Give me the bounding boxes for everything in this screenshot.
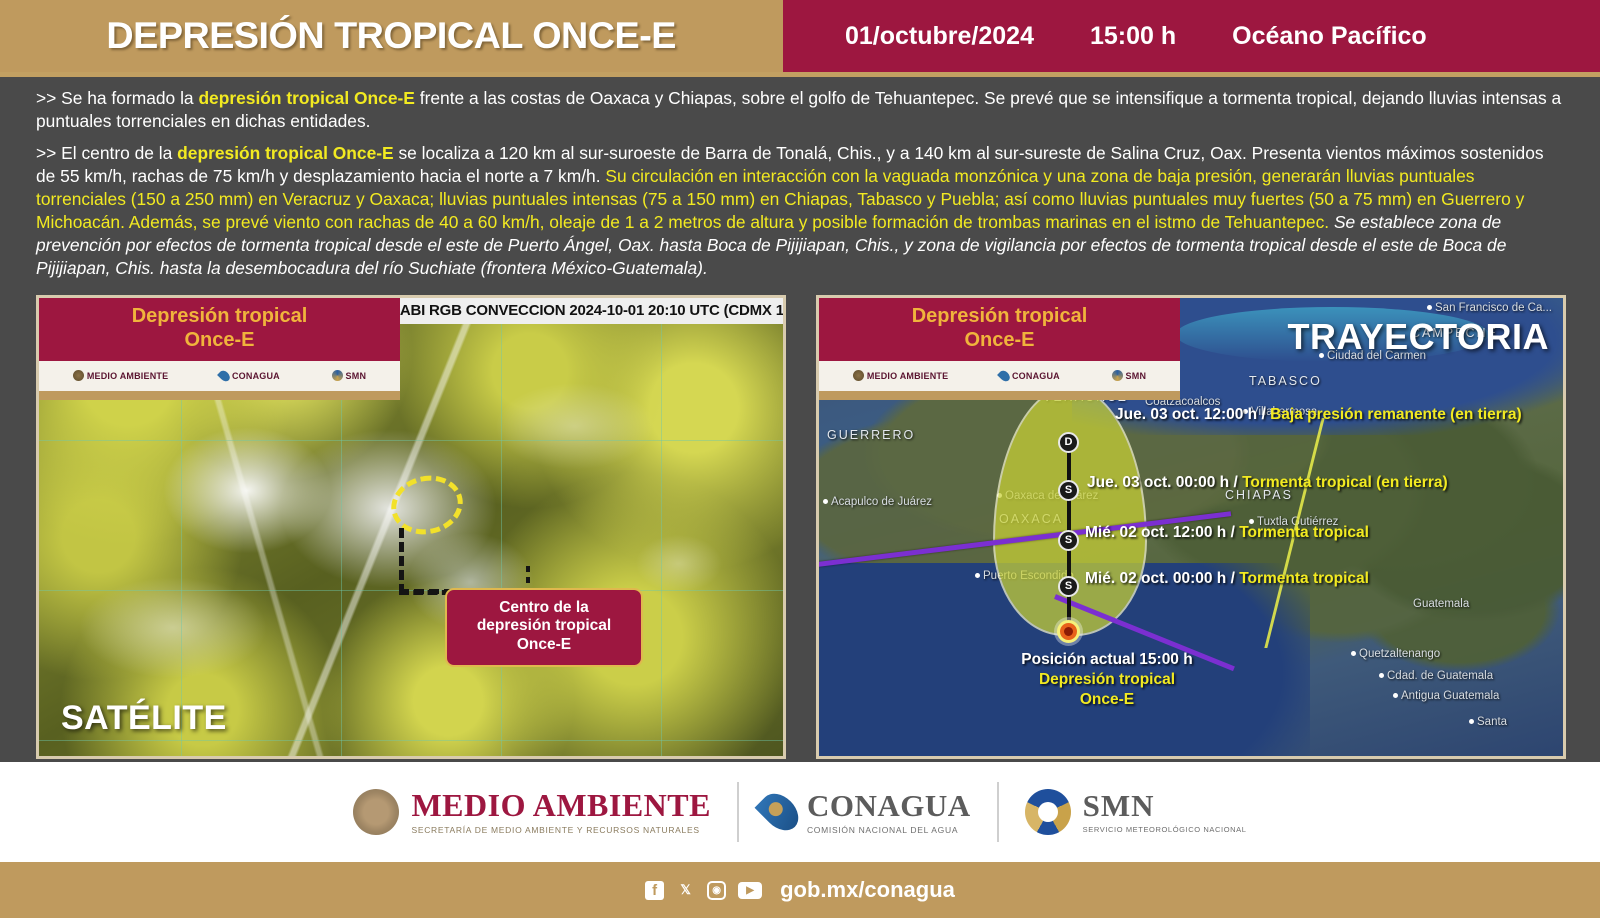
conagua-water-drop-icon bbox=[754, 787, 805, 838]
track-label-2-time: Mié. 02 oct. 12:00 h bbox=[1085, 524, 1226, 541]
footer-conagua-title: CONAGUA bbox=[807, 790, 971, 821]
traj-logo-smn-label: SMN bbox=[1126, 371, 1147, 381]
place-dot-icon bbox=[975, 573, 980, 578]
traj-logo-smn: SMN bbox=[1112, 370, 1147, 381]
place-label: Santa bbox=[1477, 716, 1507, 728]
state-label: GUERRERO bbox=[827, 428, 915, 442]
image-panels: GOES-16 ABI RGB CONVECCION 2024-10-01 20… bbox=[0, 289, 1600, 759]
paragraph-2-segment-1: El centro de la bbox=[61, 143, 177, 163]
sat-logo-conagua: CONAGUA bbox=[220, 370, 280, 382]
trajectory-panel[interactable]: Xalapa-Enríquez Veracruz de Zaragoza PUE… bbox=[816, 295, 1566, 759]
track-label-2-category: Tormenta tropical bbox=[1239, 524, 1369, 541]
satellite-center-callout: Centro de la depresión tropical Once-E bbox=[445, 588, 643, 667]
place-dot-icon bbox=[1351, 651, 1356, 656]
header-meta-block: 01/octubre/2024 15:00 h Océano Pacífico bbox=[783, 0, 1600, 72]
footer-smn-subtitle: SERVICIO METEOROLÓGICO NACIONAL bbox=[1083, 825, 1247, 834]
track-label-0-category: Baja presión remanente (en tierra) bbox=[1270, 406, 1522, 423]
paragraph-2-chevron: >> bbox=[36, 143, 61, 163]
satellite-badge-line2: Once-E bbox=[39, 328, 400, 352]
current-position-marker[interactable] bbox=[1057, 620, 1080, 643]
water-drop-icon bbox=[217, 368, 232, 383]
satellite-branding-box: Depresión tropical Once-E MEDIO AMBIENTE… bbox=[39, 298, 400, 400]
satellite-panel[interactable]: GOES-16 ABI RGB CONVECCION 2024-10-01 20… bbox=[36, 295, 786, 759]
header-time: 15:00 h bbox=[1090, 22, 1176, 51]
traj-logo-conagua: CONAGUA bbox=[1000, 370, 1060, 382]
map-place-cdad-guatemala: Cdad. de Guatemala bbox=[1379, 670, 1493, 682]
state-label: TABASCO bbox=[1249, 374, 1322, 388]
track-label-0-sep: / bbox=[1257, 406, 1270, 423]
map-state-guerrero: GUERRERO bbox=[827, 428, 915, 442]
goes-product-title: GOES-16 ABI RGB CONVECCION 2024-10-01 20… bbox=[400, 298, 783, 324]
current-position-label: Posición actual 15:00 h Depresión tropic… bbox=[967, 650, 1247, 710]
satellite-badge-line1: Depresión tropical bbox=[39, 304, 400, 328]
callout-line1: Centro de la bbox=[453, 599, 635, 618]
place-dot-icon bbox=[1427, 305, 1432, 310]
footer-logo-conagua: CONAGUA COMISIÓN NACIONAL DEL AGUA bbox=[765, 790, 971, 835]
satellite-badge-strip bbox=[39, 391, 400, 400]
sat-logo-medio-label: MEDIO AMBIENTE bbox=[87, 371, 168, 381]
instagram-icon[interactable]: ◉ bbox=[707, 881, 726, 900]
track-node-0[interactable]: D bbox=[1058, 432, 1079, 453]
footer-medio-title: MEDIO AMBIENTE bbox=[411, 789, 710, 821]
sat-logo-smn-label: SMN bbox=[346, 371, 367, 381]
track-label-0: Jue. 03 oct. 12:00 h / Baja presión rema… bbox=[1115, 406, 1522, 424]
map-place-antigua-guatemala: Antigua Guatemala bbox=[1393, 690, 1499, 702]
traj-logo-medio-label: MEDIO AMBIENTE bbox=[867, 371, 948, 381]
map-place-acapulco: Acapulco de Juárez bbox=[823, 496, 932, 508]
callout-line2: depresión tropical bbox=[453, 617, 635, 636]
track-label-1-sep: / bbox=[1229, 474, 1242, 491]
paragraph-1-highlight-1: depresión tropical Once-E bbox=[198, 88, 414, 108]
trajectory-badge-strip bbox=[819, 391, 1180, 400]
bulletin-header: DEPRESIÓN TROPICAL ONCE-E 01/octubre/202… bbox=[0, 0, 1600, 72]
footer-logo-smn: SMN SERVICIO METEOROLÓGICO NACIONAL bbox=[1025, 789, 1247, 835]
footer-logo-medio-ambiente: MEDIO AMBIENTE SECRETARÍA DE MEDIO AMBIE… bbox=[353, 789, 710, 835]
footer-social-bar: f 𝕏 ◉ ▶ gob.mx/conagua bbox=[0, 862, 1600, 918]
current-position-line2: Depresión tropical bbox=[967, 670, 1247, 690]
footer-smn-title: SMN bbox=[1083, 790, 1247, 821]
trajectory-badge-line2: Once-E bbox=[819, 328, 1180, 352]
water-drop-icon bbox=[997, 368, 1012, 383]
cyclone-bracket-marker bbox=[399, 528, 499, 594]
place-label: Quetzaltenango bbox=[1359, 648, 1440, 660]
map-place-santa: Santa bbox=[1469, 716, 1507, 728]
sat-logo-conagua-label: CONAGUA bbox=[232, 371, 280, 381]
youtube-icon[interactable]: ▶ bbox=[738, 882, 762, 899]
track-node-1[interactable]: S bbox=[1058, 480, 1079, 501]
paragraph-2-highlight-1: depresión tropical Once-E bbox=[177, 143, 393, 163]
footer-medio-subtitle: SECRETARÍA DE MEDIO AMBIENTE Y RECURSOS … bbox=[411, 825, 710, 835]
trajectory-branding-box: Depresión tropical Once-E MEDIO AMBIENTE… bbox=[819, 298, 1180, 400]
traj-logo-conagua-label: CONAGUA bbox=[1012, 371, 1060, 381]
place-label: Acapulco de Juárez bbox=[831, 496, 932, 508]
callout-leader-line bbox=[526, 566, 530, 590]
paragraph-1-chevron: >> bbox=[36, 88, 61, 108]
place-dot-icon bbox=[823, 499, 828, 504]
spiral-icon bbox=[332, 370, 343, 381]
track-label-3-category: Tormenta tropical bbox=[1239, 570, 1369, 587]
place-label: Guatemala bbox=[1413, 598, 1469, 610]
sat-logo-smn: SMN bbox=[332, 370, 367, 381]
track-label-2: Mié. 02 oct. 12:00 h / Tormenta tropical bbox=[1085, 524, 1369, 542]
satellite-corner-label: SATÉLITE bbox=[61, 699, 227, 738]
footer-divider-1 bbox=[737, 782, 739, 842]
header-title-block: DEPRESIÓN TROPICAL ONCE-E bbox=[0, 0, 783, 72]
track-node-2[interactable]: S bbox=[1058, 530, 1079, 551]
track-label-2-sep: / bbox=[1226, 524, 1239, 541]
track-node-3[interactable]: S bbox=[1058, 576, 1079, 597]
footer-divider-2 bbox=[997, 782, 999, 842]
paragraph-1-segment-1: Se ha formado la bbox=[61, 88, 198, 108]
place-label: San Francisco de Ca... bbox=[1435, 302, 1552, 314]
facebook-icon[interactable]: f bbox=[645, 881, 664, 900]
map-place-san-francisco: San Francisco de Ca... bbox=[1427, 302, 1552, 314]
current-position-line3: Once-E bbox=[967, 690, 1247, 710]
trajectory-badge-line1: Depresión tropical bbox=[819, 304, 1180, 328]
satellite-badge: Depresión tropical Once-E bbox=[39, 298, 400, 361]
footer-conagua-subtitle: COMISIÓN NACIONAL DEL AGUA bbox=[807, 825, 971, 835]
track-label-1-category: Tormenta tropical (en tierra) bbox=[1242, 474, 1448, 491]
track-label-3-sep: / bbox=[1226, 570, 1239, 587]
mexican-eagle-seal-icon bbox=[353, 789, 399, 835]
place-dot-icon bbox=[1469, 719, 1474, 724]
trajectory-title: TRAYECTORIA bbox=[1287, 316, 1549, 358]
eagle-icon bbox=[73, 370, 84, 381]
header-basin: Océano Pacífico bbox=[1232, 22, 1427, 51]
traj-logo-medio-ambiente: MEDIO AMBIENTE bbox=[853, 370, 948, 381]
footer-url[interactable]: gob.mx/conagua bbox=[780, 877, 955, 903]
x-icon[interactable]: 𝕏 bbox=[676, 881, 695, 900]
place-dot-icon bbox=[1379, 673, 1384, 678]
sat-logo-medio-ambiente: MEDIO AMBIENTE bbox=[73, 370, 168, 381]
place-dot-icon bbox=[1393, 693, 1398, 698]
place-label: Cdad. de Guatemala bbox=[1387, 670, 1493, 682]
footer-logos: MEDIO AMBIENTE SECRETARÍA DE MEDIO AMBIE… bbox=[0, 762, 1600, 862]
trajectory-badge: Depresión tropical Once-E bbox=[819, 298, 1180, 361]
callout-line3: Once-E bbox=[453, 636, 635, 655]
smn-spiral-icon bbox=[1025, 789, 1071, 835]
header-date: 01/octubre/2024 bbox=[845, 22, 1034, 51]
track-label-3: Mié. 02 oct. 00:00 h / Tormenta tropical bbox=[1085, 570, 1369, 588]
map-place-quetzaltenango: Quetzaltenango bbox=[1351, 648, 1440, 660]
track-label-3-time: Mié. 02 oct. 00:00 h bbox=[1085, 570, 1226, 587]
track-label-1: Jue. 03 oct. 00:00 h / Tormenta tropical… bbox=[1087, 474, 1448, 492]
eagle-icon bbox=[853, 370, 864, 381]
bulletin-text: >> Se ha formado la depresión tropical O… bbox=[0, 77, 1600, 280]
current-position-line1: Posición actual 15:00 h bbox=[967, 650, 1247, 670]
map-state-tabasco: TABASCO bbox=[1249, 374, 1322, 388]
map-place-guatemala-country: Guatemala bbox=[1413, 598, 1469, 610]
satellite-logo-strip: MEDIO AMBIENTE CONAGUA SMN bbox=[39, 361, 400, 391]
paragraph-1: >> Se ha formado la depresión tropical O… bbox=[36, 87, 1566, 133]
place-label: Antigua Guatemala bbox=[1401, 690, 1499, 702]
trajectory-logo-strip: MEDIO AMBIENTE CONAGUA SMN bbox=[819, 361, 1180, 391]
spiral-icon bbox=[1112, 370, 1123, 381]
track-label-1-time: Jue. 03 oct. 00:00 h bbox=[1087, 474, 1229, 491]
track-label-0-time: Jue. 03 oct. 12:00 h bbox=[1115, 406, 1257, 423]
page-title: DEPRESIÓN TROPICAL ONCE-E bbox=[107, 15, 676, 57]
paragraph-2: >> El centro de la depresión tropical On… bbox=[36, 142, 1566, 280]
